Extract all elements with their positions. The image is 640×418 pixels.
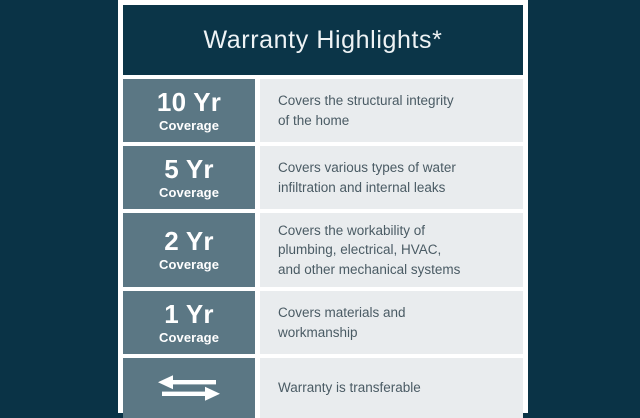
warranty-highlights-card: Warranty Highlights* 10 Yr Coverage Cove… [118,0,528,413]
term-label: Coverage [159,258,219,272]
description-text: Covers materials and workmanship [278,303,406,342]
description-box-5yr: Covers various types of water infiltrati… [260,146,523,209]
page-title: Warranty Highlights* [204,26,443,55]
card-header: Warranty Highlights* [123,5,523,75]
term-box-transferable [123,358,255,418]
description-box-transferable: Warranty is transferable [260,358,523,418]
warranty-row-10yr: 10 Yr Coverage Covers the structural int… [123,79,523,142]
term-value: 2 Yr [164,228,213,255]
screenshot-stage: Warranty Highlights* 10 Yr Coverage Cove… [0,0,640,413]
term-box-5yr: 5 Yr Coverage [123,146,255,209]
warranty-row-transferable: Warranty is transferable [123,358,523,418]
term-box-2yr: 2 Yr Coverage [123,213,255,287]
term-label: Coverage [159,186,219,200]
description-text: Covers the structural integrity of the h… [278,91,454,130]
term-label: Coverage [159,331,219,345]
description-box-1yr: Covers materials and workmanship [260,291,523,354]
warranty-row-1yr: 1 Yr Coverage Covers materials and workm… [123,291,523,354]
term-box-1yr: 1 Yr Coverage [123,291,255,354]
description-text: Covers various types of water infiltrati… [278,158,456,197]
transfer-arrows-icon [156,373,222,403]
term-label: Coverage [159,119,219,133]
warranty-row-5yr: 5 Yr Coverage Covers various types of wa… [123,146,523,209]
warranty-rows-list: 10 Yr Coverage Covers the structural int… [123,75,523,418]
term-box-10yr: 10 Yr Coverage [123,79,255,142]
term-value: 10 Yr [157,89,221,116]
description-text: Covers the workability of plumbing, elec… [278,221,460,280]
description-box-10yr: Covers the structural integrity of the h… [260,79,523,142]
term-value: 5 Yr [164,156,213,183]
term-value: 1 Yr [164,301,213,328]
description-text: Warranty is transferable [278,378,421,398]
warranty-row-2yr: 2 Yr Coverage Covers the workability of … [123,213,523,287]
description-box-2yr: Covers the workability of plumbing, elec… [260,213,523,287]
